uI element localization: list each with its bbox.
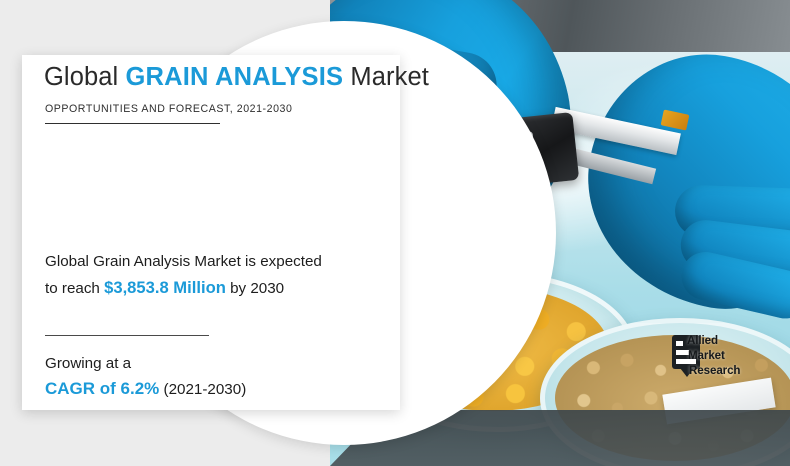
logo-line-1: Allied — [687, 334, 740, 349]
title-suffix: Market — [343, 63, 429, 91]
logo-line-3: Research — [689, 364, 740, 379]
photo-bottom-band — [330, 410, 790, 466]
allied-market-research-logo: Allied Market Research — [672, 333, 758, 383]
logo-line-2: Market — [688, 349, 740, 364]
page-subtitle: OPPORTUNITIES AND FORECAST, 2021-2030 — [45, 103, 292, 115]
logo-wordmark: Allied Market Research — [687, 334, 740, 378]
caliper-display-window — [481, 131, 536, 163]
title-accent: GRAIN ANALYSIS — [126, 63, 344, 91]
subtitle-underline — [45, 123, 220, 124]
page-title: Global GRAIN ANALYSIS Market — [44, 63, 429, 91]
stat-secondary-trail: (2021-2030) — [159, 381, 246, 398]
stat-market-value: Global Grain Analysis Market is expected… — [45, 250, 335, 302]
stat-divider — [45, 335, 209, 336]
stat-secondary-value: CAGR of 6.2% — [45, 379, 159, 398]
caliper-adjustment-screw — [470, 176, 485, 191]
content-card: Global GRAIN ANALYSIS Market OPPORTUNITI… — [22, 55, 400, 410]
stat-cagr: Growing at aCAGR of 6.2% (2021-2030) — [45, 352, 345, 403]
stat-primary-trail: by 2030 — [226, 280, 284, 297]
card-content: Global GRAIN ANALYSIS Market OPPORTUNITI… — [22, 55, 400, 410]
logo-bar-1 — [676, 341, 683, 346]
title-prefix: Global — [44, 63, 126, 91]
stat-secondary-lead: Growing at a — [45, 355, 131, 372]
infographic-canvas: Global GRAIN ANALYSIS Market OPPORTUNITI… — [0, 0, 790, 466]
stat-primary-value: $3,853.8 Million — [104, 278, 226, 297]
